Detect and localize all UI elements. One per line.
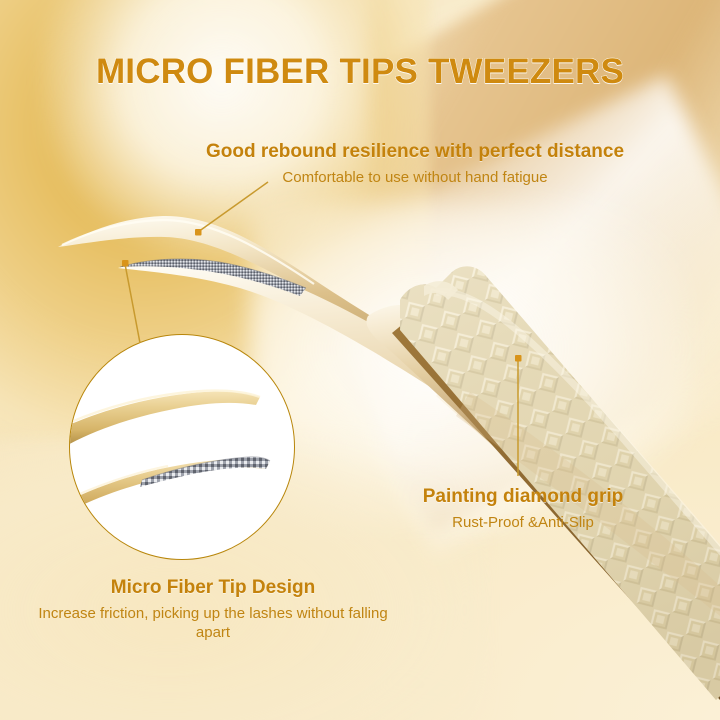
callout-tip-subtext: Increase friction, picking up the lashes… bbox=[28, 604, 398, 643]
poster-title: MICRO FIBER TIPS TWEEZERS bbox=[0, 52, 720, 92]
callout-grip-subtext: Rust-Proof &Anti-Slip bbox=[378, 513, 668, 533]
callout-rebound-heading: Good rebound resilience with perfect dis… bbox=[200, 140, 630, 164]
callout-tip-heading: Micro Fiber Tip Design bbox=[28, 576, 398, 600]
callout-tip: Micro Fiber Tip Design Increase friction… bbox=[28, 576, 398, 643]
callout-dot-rebound bbox=[195, 229, 202, 236]
callout-rebound: Good rebound resilience with perfect dis… bbox=[200, 140, 630, 187]
product-infographic-poster: MICRO FIBER TIPS TWEEZERS Good rebound r… bbox=[0, 0, 720, 720]
leader-line-tip bbox=[125, 264, 140, 343]
callout-dot-grip bbox=[515, 355, 522, 362]
leader-line-rebound bbox=[198, 182, 268, 232]
callout-grip-heading: Painting diamond grip bbox=[378, 485, 668, 509]
callout-rebound-subtext: Comfortable to use without hand fatigue bbox=[200, 168, 630, 188]
callout-grip: Painting diamond grip Rust-Proof &Anti-S… bbox=[378, 485, 668, 532]
callout-dot-tip bbox=[122, 260, 129, 267]
